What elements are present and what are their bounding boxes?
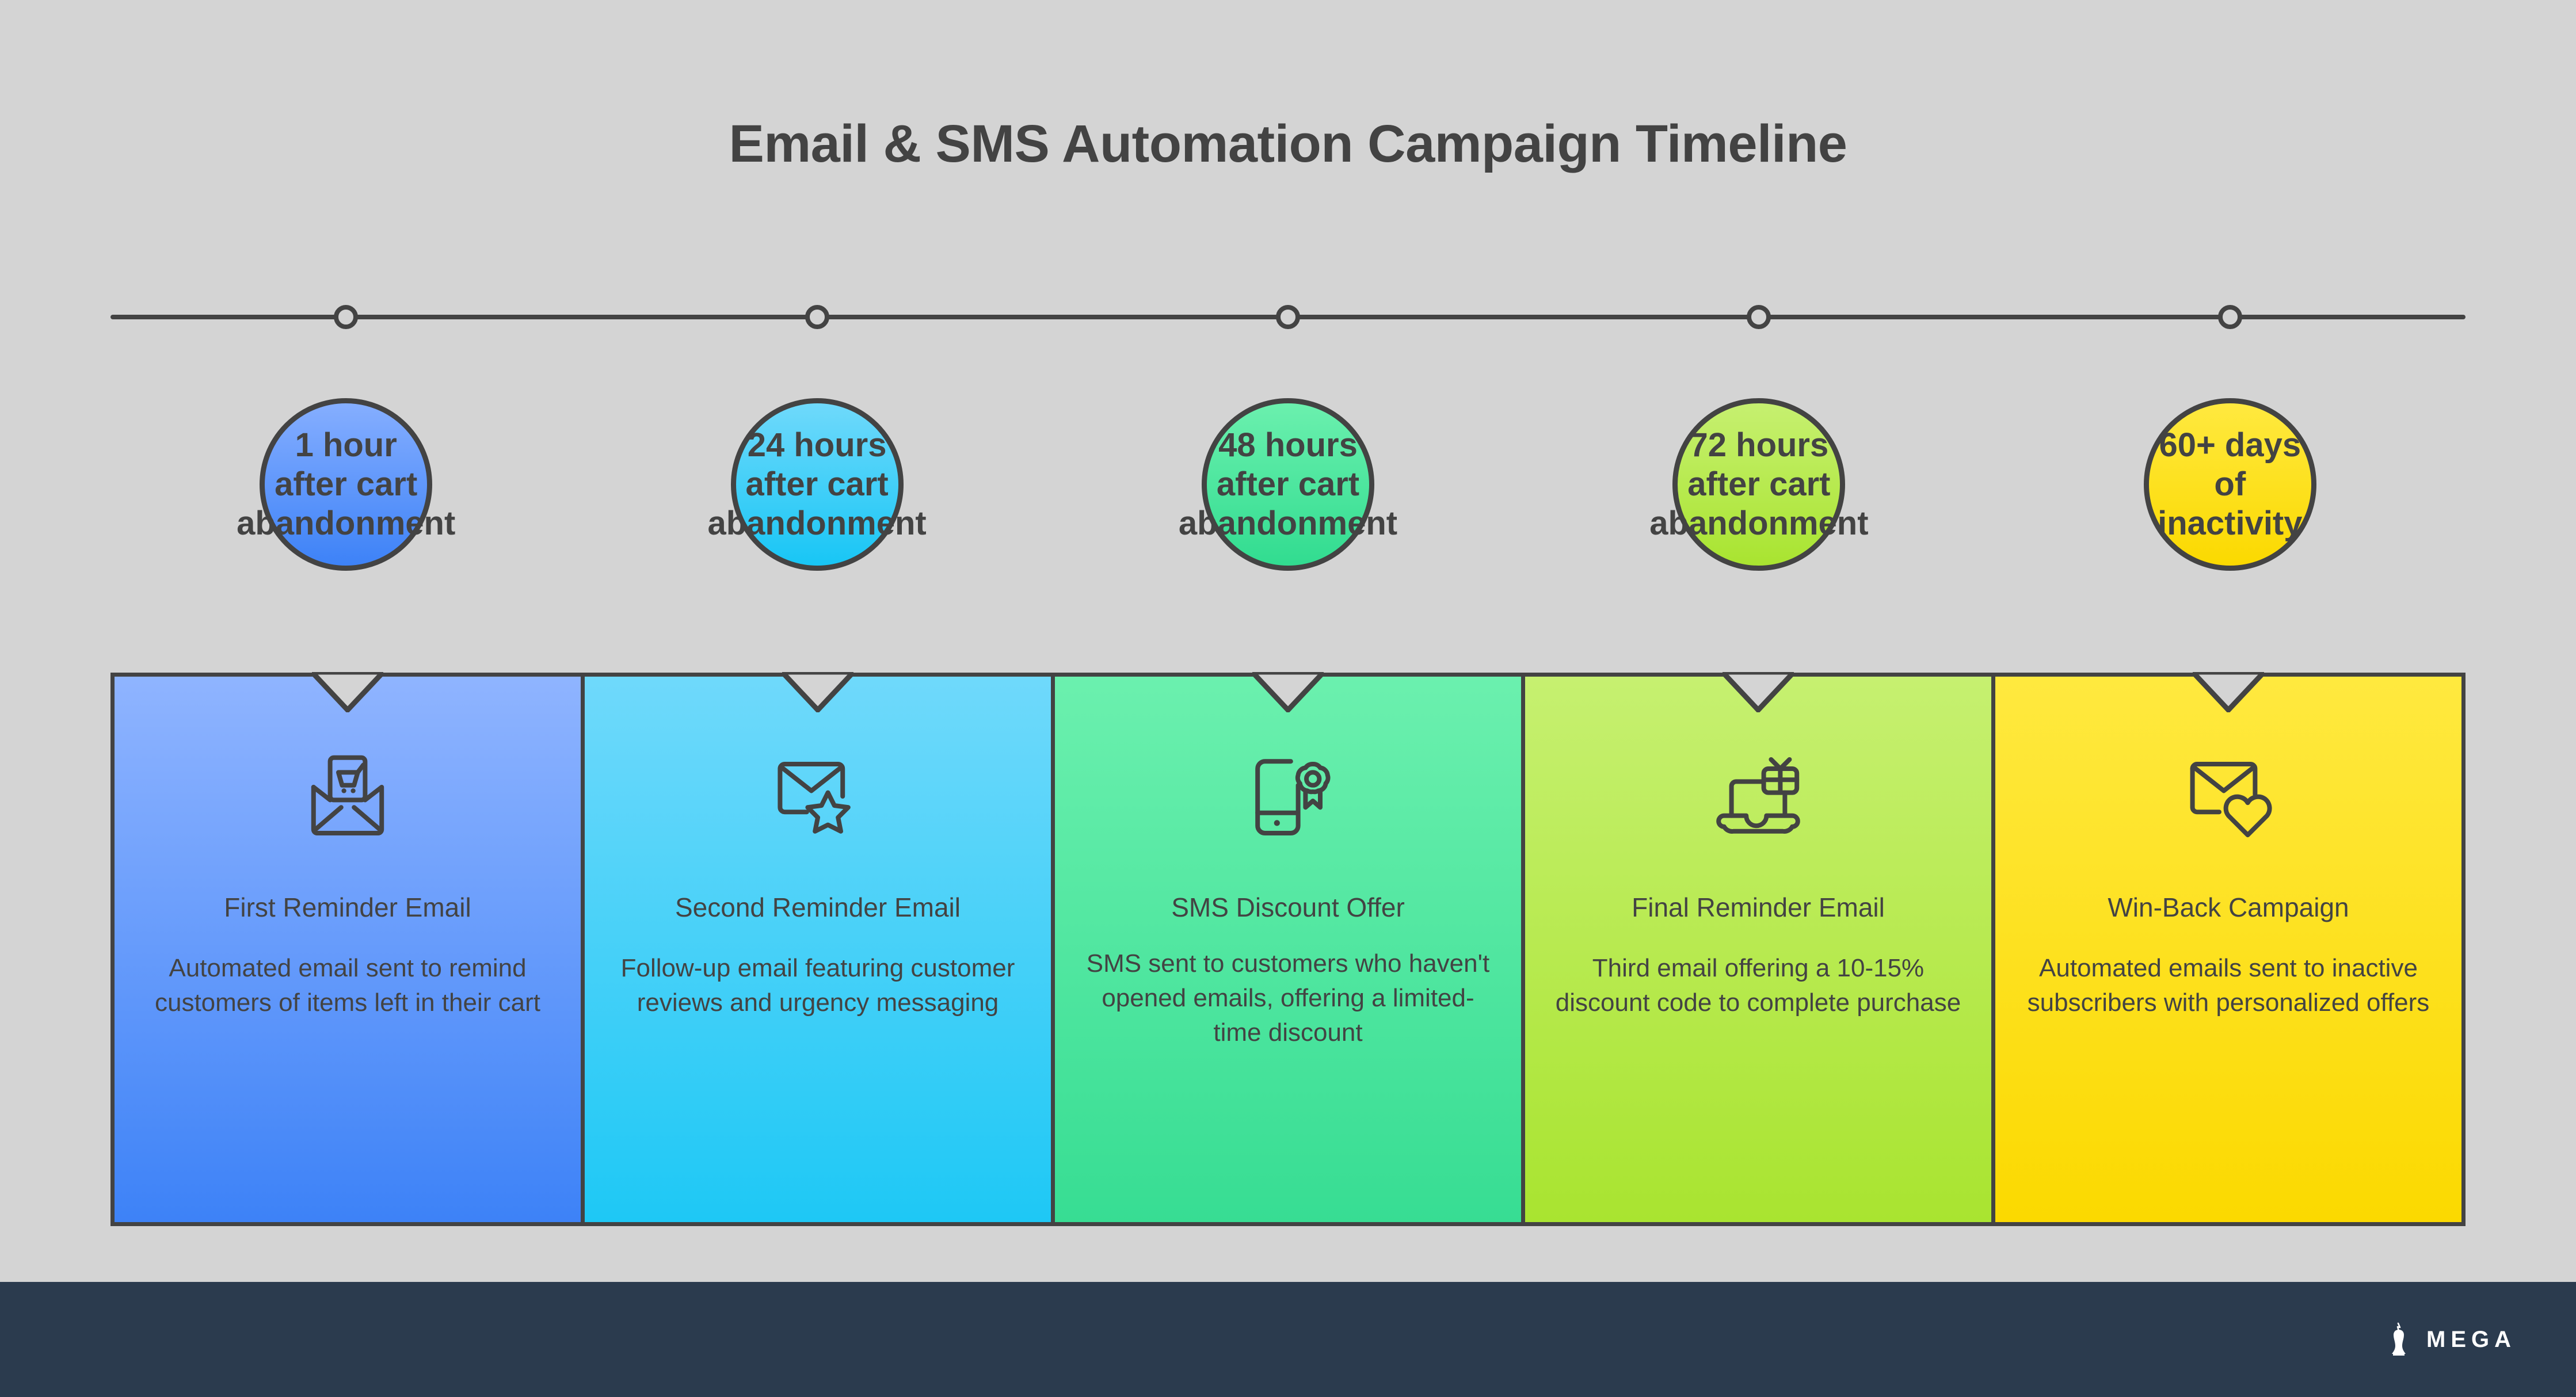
panel-description: Third email offering a 10-15% discount c… xyxy=(1553,951,1964,1020)
laptop-gift-icon xyxy=(1701,745,1816,848)
stage-panel-win-back-campaign[interactable]: Win-Back Campaign Automated emails sent … xyxy=(1995,677,2461,1222)
brand-logo: MEGA xyxy=(2386,1322,2516,1357)
stage-bubble-label: 72 hoursafter cartabandonment xyxy=(1649,426,1868,543)
timeline-marker-first-reminder-email xyxy=(334,305,358,329)
footer-bar: MEGA xyxy=(0,1282,2576,1397)
stage-bubble-first-reminder-email[interactable]: 1 hourafter cartabandonment xyxy=(260,398,432,571)
panel-notch xyxy=(782,672,853,712)
envelope-heart-icon xyxy=(2171,745,2286,848)
infographic-canvas: Email & SMS Automation Campaign Timeline… xyxy=(0,0,2576,1397)
panel-heading: Second Reminder Email xyxy=(675,892,961,923)
panel-description: SMS sent to customers who haven't opened… xyxy=(1083,946,1493,1049)
stage-bubble-label: 60+ daysofinactivity xyxy=(2158,426,2302,543)
envelope-star-icon xyxy=(760,745,875,848)
stage-bubble-label: 48 hoursafter cartabandonment xyxy=(1179,426,1397,543)
panel-notch xyxy=(1723,672,1794,712)
stage-panel-second-reminder-email[interactable]: Second Reminder Email Follow-up email fe… xyxy=(585,677,1055,1222)
timeline-marker-sms-discount-offer xyxy=(1276,305,1300,329)
panel-heading: Win-Back Campaign xyxy=(2108,892,2349,923)
stage-bubble-sms-discount-offer[interactable]: 48 hoursafter cartabandonment xyxy=(1202,398,1374,571)
stage-bubble-label: 1 hourafter cartabandonment xyxy=(237,426,455,543)
panel-description: Automated emails sent to inactive subscr… xyxy=(2024,951,2434,1020)
stage-bubble-win-back-campaign[interactable]: 60+ daysofinactivity xyxy=(2144,398,2316,571)
panel-notch xyxy=(1252,672,1324,712)
stage-panel-final-reminder-email[interactable]: Final Reminder Email Third email offerin… xyxy=(1525,677,1995,1222)
phone-award-icon xyxy=(1230,745,1346,848)
panel-heading: SMS Discount Offer xyxy=(1171,892,1405,923)
panel-description: Automated email sent to remind customers… xyxy=(143,951,553,1020)
timeline-marker-win-back-campaign xyxy=(2218,305,2242,329)
stage-panel-first-reminder-email[interactable]: First Reminder Email Automated email sen… xyxy=(115,677,585,1222)
mega-statue-icon xyxy=(2386,1322,2411,1357)
stage-panel-row: First Reminder Email Automated email sen… xyxy=(110,673,2466,1226)
brand-wordmark: MEGA xyxy=(2426,1327,2516,1353)
page-title: Email & SMS Automation Campaign Timeline xyxy=(0,114,2576,174)
stage-bubble-label: 24 hoursafter cartabandonment xyxy=(707,426,926,543)
timeline-marker-second-reminder-email xyxy=(805,305,829,329)
panel-heading: Final Reminder Email xyxy=(1632,892,1885,923)
panel-description: Follow-up email featuring customer revie… xyxy=(613,951,1023,1020)
panel-notch xyxy=(2193,672,2264,712)
panel-notch xyxy=(312,672,383,712)
panel-heading: First Reminder Email xyxy=(224,892,471,923)
envelope-cart-icon xyxy=(290,745,405,848)
timeline-marker-final-reminder-email xyxy=(1747,305,1771,329)
stage-bubble-second-reminder-email[interactable]: 24 hoursafter cartabandonment xyxy=(731,398,904,571)
stage-panel-sms-discount-offer[interactable]: SMS Discount Offer SMS sent to customers… xyxy=(1055,677,1525,1222)
stage-bubble-final-reminder-email[interactable]: 72 hoursafter cartabandonment xyxy=(1672,398,1845,571)
